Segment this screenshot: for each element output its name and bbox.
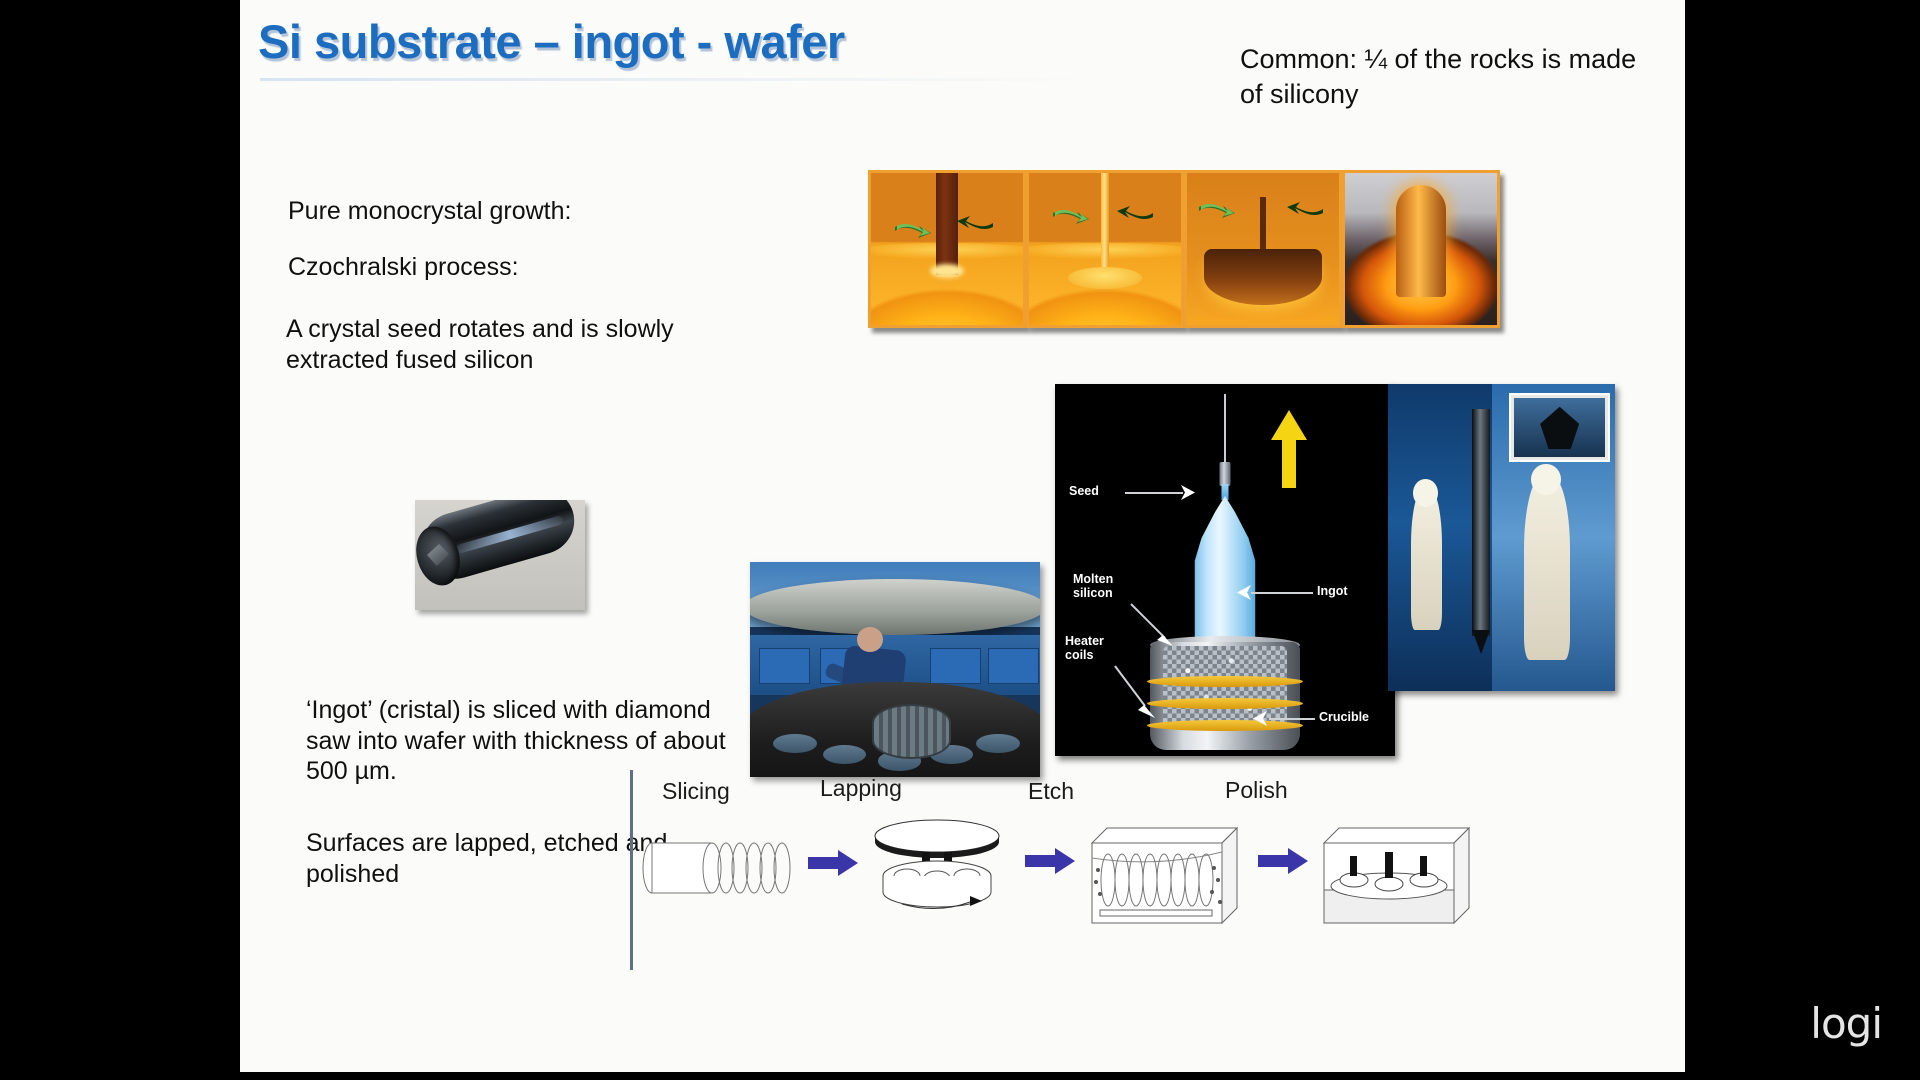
- filmstrip-panel-neck-pull: [1026, 170, 1184, 328]
- process-label-polish: Polish: [1225, 777, 1288, 804]
- rotation-arrow-left-icon: [893, 221, 933, 241]
- process-label-lapping: Lapping: [820, 775, 902, 802]
- crucible-leader-arrowhead-icon: [1253, 711, 1267, 726]
- ingot-leader-line: [1251, 592, 1313, 594]
- body-line-pure-monocrystal: Pure monocrystal growth:: [288, 196, 708, 227]
- ingot-photo: [415, 500, 585, 610]
- rotation-arrow-right-icon: [955, 213, 995, 233]
- title-underline: [260, 78, 1084, 81]
- filmstrip-panel-shoulder: [1184, 170, 1342, 328]
- process-arrow-1-icon: [808, 850, 858, 876]
- polish-illustration: [1314, 818, 1479, 933]
- crucible-leader-line: [1269, 718, 1315, 720]
- pull-direction-arrow-icon: [1269, 410, 1309, 488]
- heater-coils-leader-icon: [1113, 664, 1157, 720]
- process-arrow-2-icon: [1025, 848, 1075, 874]
- screen: Si substrate – ingot - wafer Common: ¼ o…: [0, 0, 1920, 1080]
- cz-label-crucible: Crucible: [1319, 710, 1369, 724]
- slicing-illustration: [640, 828, 800, 908]
- lapping-illustration: [862, 818, 1012, 923]
- wafer-process-diagram: Slicing Lapping Etch Polish: [630, 770, 1640, 970]
- cz-label-molten-silicon: Molten silicon: [1073, 572, 1143, 601]
- lapping-machine-photo: [750, 562, 1040, 777]
- cleanroom-photo: [1388, 384, 1615, 691]
- rotation-arrow-right-icon: [1115, 203, 1155, 223]
- process-label-etch: Etch: [1028, 778, 1074, 805]
- presentation-slide: Si substrate – ingot - wafer Common: ¼ o…: [240, 0, 1685, 1072]
- body-line-seed-rotates: A crystal seed rotates and is slowly ext…: [286, 314, 706, 375]
- body-line-czochralski: Czochralski process:: [288, 252, 708, 283]
- slide-title: Si substrate – ingot - wafer: [258, 14, 845, 69]
- cz-label-heater-coils: Heater coils: [1065, 634, 1131, 663]
- molten-silicon-leader-icon: [1129, 602, 1175, 648]
- filmstrip-panel-ingot-in-crucible: [1342, 170, 1500, 328]
- filmstrip-panel-seed-dip: [868, 170, 1026, 328]
- process-divider-line: [630, 770, 633, 970]
- rotation-arrow-right-icon: [1285, 199, 1325, 219]
- ingot-leader-arrowhead-icon: [1237, 585, 1251, 600]
- czochralski-filmstrip: [868, 170, 1498, 330]
- cz-label-ingot: Ingot: [1317, 584, 1348, 598]
- cz-label-seed: Seed: [1069, 484, 1099, 498]
- etch-illustration: [1082, 818, 1247, 933]
- seed-leader-arrowhead-icon: [1181, 485, 1195, 500]
- rotation-arrow-left-icon: [1197, 201, 1237, 221]
- process-arrow-3-icon: [1258, 848, 1308, 874]
- rotation-arrow-left-icon: [1051, 207, 1091, 227]
- common-note-text: Common: ¼ of the rocks is made of silico…: [1240, 42, 1640, 112]
- logi-watermark: logi: [1810, 999, 1882, 1048]
- process-label-slicing: Slicing: [662, 778, 730, 805]
- seed-leader-line: [1125, 492, 1183, 494]
- czochralski-schematic: Seed Molten silicon Heater coils Ingot C…: [1055, 384, 1395, 756]
